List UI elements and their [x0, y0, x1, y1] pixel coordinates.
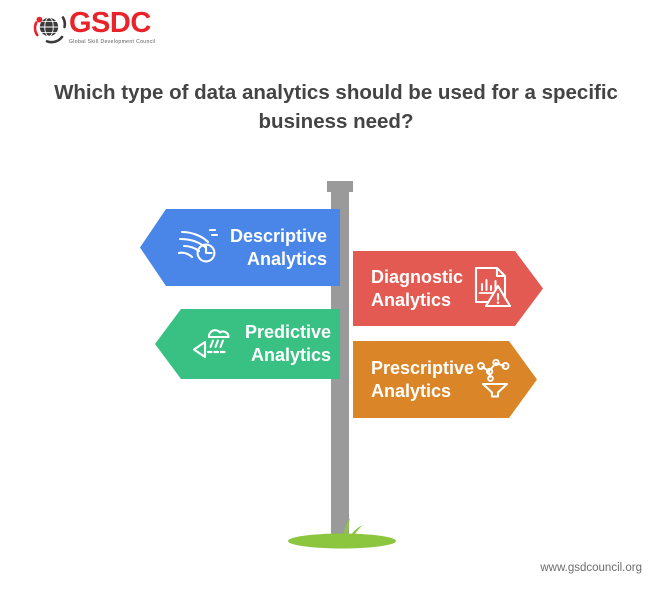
logo-tagline: Global Skill Development Council — [69, 39, 156, 45]
grass-icon — [288, 516, 396, 552]
sign-predictive-analytics[interactable]: Predictive Analytics — [155, 309, 340, 379]
sign-descriptive-analytics[interactable]: Descriptive Analytics — [140, 209, 340, 286]
data-stream-clock-icon — [174, 223, 220, 272]
sign-diagnostic-label: Diagnostic Analytics — [371, 266, 463, 312]
globe-icon — [33, 10, 67, 44]
logo: GSDC Global Skill Development Council — [33, 9, 156, 45]
sign-prescriptive-label: Prescriptive Analytics — [371, 357, 474, 403]
network-funnel-icon — [474, 355, 516, 404]
signpost-cap — [327, 181, 353, 192]
footer-website-url: www.gsdcouncil.org — [540, 562, 642, 574]
sign-descriptive-label: Descriptive Analytics — [230, 225, 327, 271]
rain-cloud-forecast-icon — [189, 321, 235, 368]
sign-predictive-label: Predictive Analytics — [245, 321, 331, 367]
sign-diagnostic-analytics[interactable]: Diagnostic Analytics — [353, 251, 543, 326]
report-warning-icon — [471, 264, 513, 313]
logo-title: GSDC — [69, 9, 151, 38]
page-title: Which type of data analytics should be u… — [50, 78, 622, 136]
sign-prescriptive-analytics[interactable]: Prescriptive Analytics — [353, 341, 537, 418]
